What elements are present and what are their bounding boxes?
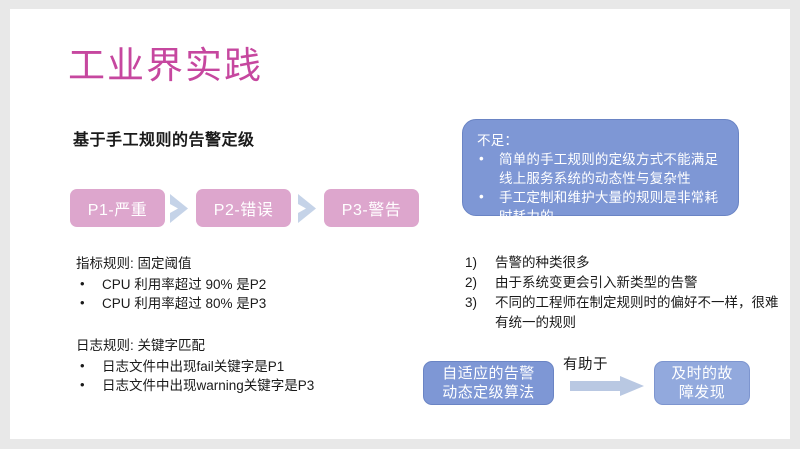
timely-fault-detection-line1: 及时的故 bbox=[671, 364, 733, 383]
list-item-number: 3) bbox=[465, 293, 477, 313]
list-item-text: 不同的工程师在制定规则时的偏好不一样，很难有统一的规则 bbox=[495, 295, 779, 330]
flow-step-p2[interactable]: P2-错误 bbox=[196, 189, 291, 227]
list-item-number: 2) bbox=[465, 273, 477, 293]
log-rules-item: 日志文件中出现warning关键字是P3 bbox=[76, 376, 314, 396]
log-rules-block: 日志规则: 关键字匹配 日志文件中出现fail关键字是P1 日志文件中出现war… bbox=[76, 336, 314, 396]
page-title: 工业界实践 bbox=[68, 35, 263, 89]
list-item: 1) 告警的种类很多 bbox=[465, 253, 790, 273]
log-rules-heading: 日志规则: 关键字匹配 bbox=[76, 336, 314, 356]
connector-label: 有助于 bbox=[563, 353, 608, 374]
metric-rules-item: CPU 利用率超过 80% 是P3 bbox=[76, 294, 266, 314]
chevron-right-icon bbox=[296, 193, 324, 224]
timely-fault-detection-box[interactable]: 及时的故 障发现 bbox=[654, 361, 750, 405]
slide-canvas: 工业界实践 基于手工规则的告警定级 P1-严重 P2-错误 P3-警告 指标规则… bbox=[10, 9, 790, 439]
adaptive-algorithm-box[interactable]: 自适应的告警 动态定级算法 bbox=[423, 361, 554, 405]
list-item: 3) 不同的工程师在制定规则时的偏好不一样，很难有统一的规则 bbox=[465, 293, 790, 333]
list-item-number: 1) bbox=[465, 253, 477, 273]
limitations-item: 手工定制和维护大量的规则是非常耗时耗力的 bbox=[477, 188, 728, 226]
list-item-text: 告警的种类很多 bbox=[495, 255, 590, 270]
timely-fault-detection-line2: 障发现 bbox=[679, 383, 725, 402]
limitations-item: 简单的手工规则的定级方式不能满足线上服务系统的动态性与复杂性 bbox=[477, 150, 728, 188]
limitations-heading: 不足： bbox=[477, 131, 728, 150]
flow-step-p3[interactable]: P3-警告 bbox=[324, 189, 419, 227]
list-item: 2) 由于系统变更会引入新类型的告警 bbox=[465, 273, 790, 293]
challenges-numbered-list: 1) 告警的种类很多 2) 由于系统变更会引入新类型的告警 3) 不同的工程师在… bbox=[465, 253, 790, 333]
limitations-callout: 不足： 简单的手工规则的定级方式不能满足线上服务系统的动态性与复杂性 手工定制和… bbox=[462, 119, 739, 216]
metric-rules-heading: 指标规则: 固定阈值 bbox=[76, 254, 266, 274]
list-item-text: 由于系统变更会引入新类型的告警 bbox=[495, 275, 698, 290]
chevron-right-icon bbox=[168, 193, 196, 224]
flow-step-p1[interactable]: P1-严重 bbox=[70, 189, 165, 227]
adaptive-algorithm-line1: 自适应的告警 bbox=[442, 364, 534, 383]
arrow-right-icon bbox=[570, 376, 644, 396]
log-rules-item: 日志文件中出现fail关键字是P1 bbox=[76, 357, 314, 377]
adaptive-algorithm-line2: 动态定级算法 bbox=[442, 383, 534, 402]
left-subheading: 基于手工规则的告警定级 bbox=[73, 126, 255, 150]
metric-rules-item: CPU 利用率超过 90% 是P2 bbox=[76, 275, 266, 295]
metric-rules-block: 指标规则: 固定阈值 CPU 利用率超过 90% 是P2 CPU 利用率超过 8… bbox=[76, 254, 266, 314]
